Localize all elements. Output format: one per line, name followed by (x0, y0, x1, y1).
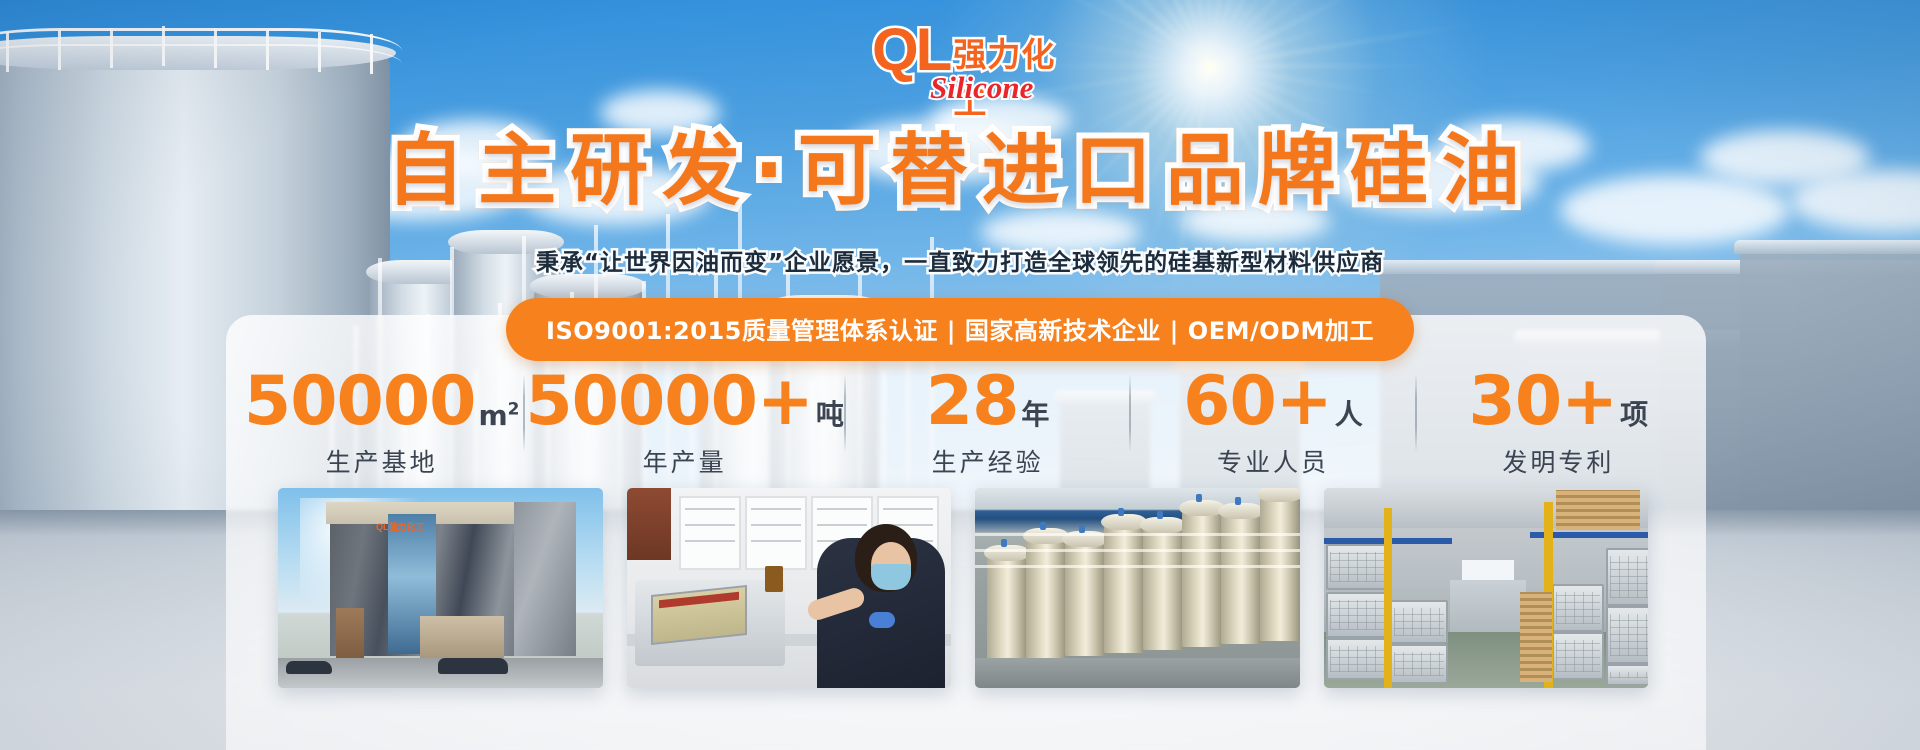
stat-item-2: 50000+吨年产量 (525, 368, 844, 479)
instrument-screen (651, 585, 747, 645)
ibc-tote (1326, 638, 1388, 680)
ibc-tote (1552, 584, 1604, 632)
stat-label: 发明专利 (1417, 443, 1700, 479)
photo-strip: QL强力化工 (278, 488, 1648, 750)
stat-unit: 项 (1620, 393, 1648, 433)
stat-item-4: 60+人专业人员 (1131, 368, 1414, 479)
stat-label: 专业人员 (1131, 443, 1414, 479)
stat-unit: 年 (1021, 393, 1049, 433)
stat-label: 生产经验 (846, 443, 1129, 479)
ibc-tote (1606, 606, 1649, 664)
company-logo[interactable]: QL 强力化工 Silicone (872, 22, 1062, 104)
stat-label: 生产基地 (240, 443, 523, 479)
stat-number: 30+ (1469, 368, 1618, 436)
stat-unit: 人 (1335, 393, 1363, 433)
entrance-pillar (336, 608, 364, 660)
ibc-tote (1606, 548, 1649, 606)
stat-number: 60+ (1183, 368, 1332, 436)
logo-mark-ql: QL (872, 22, 949, 77)
photo-warehouse[interactable] (1324, 488, 1649, 688)
building-logo-sign: QL强力化工 (376, 520, 425, 533)
building-side-wing (514, 502, 576, 656)
lab-door (627, 488, 671, 560)
parked-car (286, 661, 332, 674)
stat-number: 50000+ (525, 368, 813, 436)
ibc-tote (1606, 664, 1649, 686)
photo-tank-farm[interactable] (975, 488, 1300, 688)
photo-office-building[interactable]: QL强力化工 (278, 488, 603, 688)
stat-item-3: 28年生产经验 (846, 368, 1129, 479)
stats-row: 50000m2生产基地50000+吨年产量28年生产经验60+人专业人员30+项… (240, 368, 1700, 478)
entrance-canopy (420, 616, 504, 658)
blue-glove (869, 612, 895, 628)
tank-deck (975, 658, 1300, 688)
stat-item-1: 50000m2生产基地 (240, 368, 523, 479)
certification-row: ISO9001:2015质量管理体系认证 | 国家高新技术企业 | OEM/OD… (0, 298, 1920, 361)
hero-subtitle: 秉承“让世界因油而变”企业愿景，一直致力打造全球领先的硅基新型材料供应商 (0, 243, 1920, 277)
hero-headline-text: 自主研发·可替进口品牌硅油 (386, 126, 1534, 216)
ibc-tote (1552, 632, 1604, 680)
parked-car (438, 658, 508, 674)
stat-unit: 吨 (816, 393, 844, 433)
face-mask-icon (871, 564, 911, 590)
stat-number: 50000 (244, 368, 476, 436)
stat-number: 28 (926, 368, 1019, 436)
ibc-tote (1326, 592, 1388, 638)
hero-headline: 自主研发·可替进口品牌硅油 (0, 108, 1920, 220)
logo-silicone-script: Silicone (930, 70, 1033, 106)
ibc-tote (1390, 600, 1448, 644)
certification-badge: ISO9001:2015质量管理体系认证 | 国家高新技术企业 | OEM/OD… (506, 298, 1414, 361)
stat-unit: m2 (478, 399, 519, 432)
ibc-tote (1326, 544, 1388, 590)
sample-bottle (765, 566, 783, 592)
ibc-tote (1390, 644, 1448, 684)
stat-label: 年产量 (525, 443, 844, 479)
photo-laboratory[interactable] (627, 488, 952, 688)
stat-item-5: 30+项发明专利 (1417, 368, 1700, 479)
